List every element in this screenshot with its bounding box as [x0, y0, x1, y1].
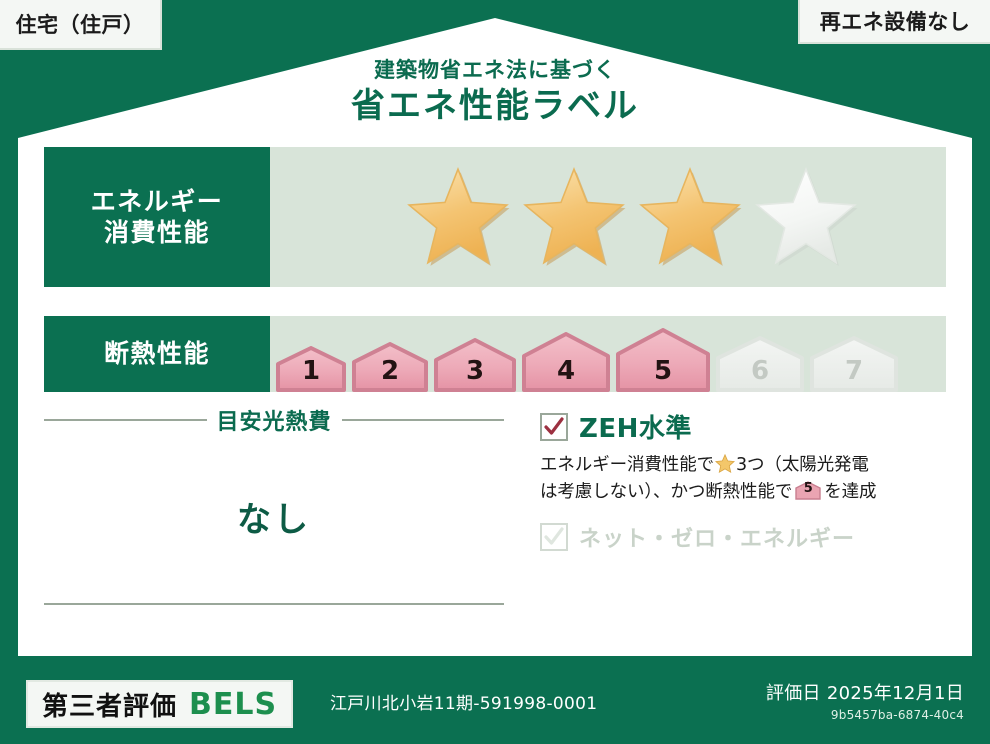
insulation-grade-number: 2 — [381, 356, 399, 392]
energy-performance-label-line2: 消費性能 — [104, 217, 210, 248]
star-icon-inline — [715, 454, 735, 473]
zeh-desc-part4: を達成 — [824, 482, 876, 502]
utility-cost-title: 目安光熱費 — [217, 404, 332, 436]
title-main: 省エネ性能ラベル — [0, 85, 990, 128]
badge-renewable-label: 再エネ設備なし — [820, 6, 971, 36]
star-icon-filled — [520, 165, 628, 269]
insulation-grade-empty: 7 — [810, 336, 898, 392]
insulation-performance-label-text: 断熱性能 — [104, 338, 210, 369]
page-title: 建築物省エネ法に基づく 省エネ性能ラベル — [0, 58, 990, 128]
bels-logo-jp: 第三者評価 — [42, 686, 177, 723]
zeh-desc-part3: は考慮しない）、かつ断熱性能で — [540, 482, 792, 502]
utility-cost-header: 目安光熱費 — [44, 404, 504, 436]
title-subtitle: 建築物省エネ法に基づく — [0, 58, 990, 83]
energy-performance-label-line1: エネルギー — [91, 186, 224, 217]
badge-renewable-equipment: 再エネ設備なし — [798, 0, 990, 44]
energy-performance-value — [270, 147, 946, 287]
property-id: 江戸川北小岩11期-591998-0001 — [330, 689, 597, 714]
star-rating — [270, 165, 860, 269]
inline-grade-number: 5 — [795, 481, 821, 500]
rule-left — [44, 419, 207, 421]
zeh-description: エネルギー消費性能で3つ（太陽光発電は考慮しない）、かつ断熱性能で5を達成 — [540, 452, 950, 505]
check-icon — [543, 416, 565, 438]
utility-cost-value: なし — [44, 492, 504, 541]
insulation-grade-filled: 4 — [522, 332, 610, 392]
zeh-checkbox[interactable] — [540, 413, 568, 441]
evaluation-date-block: 評価日 2025年12月1日 9b5457ba-6874-40c4 — [766, 679, 964, 722]
energy-performance-label: エネルギー 消費性能 — [44, 147, 270, 287]
zeh-block: ZEH水準 エネルギー消費性能で3つ（太陽光発電は考慮しない）、かつ断熱性能で5… — [540, 408, 950, 553]
star-icon-filled — [404, 165, 512, 269]
insulation-grade-number: 6 — [751, 356, 769, 392]
star-icon-filled — [636, 165, 744, 269]
energy-performance-label: 住宅（住戸） 再エネ設備なし 建築物省エネ法に基づく 省エネ性能ラベル エネルギ… — [0, 0, 990, 744]
check-icon-disabled — [543, 526, 565, 548]
evaluation-uuid: 9b5457ba-6874-40c4 — [766, 708, 964, 722]
energy-performance-row: エネルギー 消費性能 — [44, 147, 946, 287]
utility-cost-block: 目安光熱費 なし — [44, 404, 504, 605]
insulation-performance-value: 1234567 — [270, 316, 946, 392]
insulation-performance-label: 断熱性能 — [44, 316, 270, 392]
insulation-grade-filled: 5 — [616, 328, 710, 392]
zeh-check-row: ZEH水準 — [540, 408, 950, 445]
evaluation-date: 評価日 2025年12月1日 — [766, 679, 964, 705]
badge-building-type-label: 住宅（住戸） — [16, 9, 145, 39]
utility-cost-underline — [44, 603, 504, 605]
zeh-desc-part2: 3つ（太陽光発電 — [736, 455, 869, 475]
badge-building-type: 住宅（住戸） — [0, 0, 162, 50]
rule-right — [342, 419, 505, 421]
insulation-grade-empty: 6 — [716, 336, 804, 392]
bels-logo-en: BELS — [189, 687, 277, 722]
insulation-grade-number: 1 — [302, 356, 320, 392]
insulation-grade-number: 4 — [557, 356, 575, 392]
insulation-grade-number: 5 — [654, 356, 672, 392]
net-zero-energy-checkbox[interactable] — [540, 523, 568, 551]
net-zero-energy-row: ネット・ゼロ・エネルギー — [540, 521, 950, 553]
insulation-grade-filled: 1 — [276, 346, 346, 392]
bels-logo: 第三者評価 BELS — [26, 680, 293, 728]
insulation-performance-row: 断熱性能 1234567 — [44, 316, 946, 392]
star-icon-empty — [752, 165, 860, 269]
zeh-desc-part1: エネルギー消費性能で — [540, 455, 714, 475]
insulation-grade-number: 7 — [845, 356, 863, 392]
insulation-grade-filled: 2 — [352, 342, 428, 392]
insulation-grade-filled: 3 — [434, 338, 516, 392]
zeh-title: ZEH水準 — [579, 408, 692, 445]
insulation-grade-number: 3 — [466, 356, 484, 392]
net-zero-energy-title: ネット・ゼロ・エネルギー — [579, 521, 855, 553]
inline-grade-badge: 5 — [795, 481, 821, 500]
insulation-grade-scale: 1234567 — [270, 316, 898, 392]
